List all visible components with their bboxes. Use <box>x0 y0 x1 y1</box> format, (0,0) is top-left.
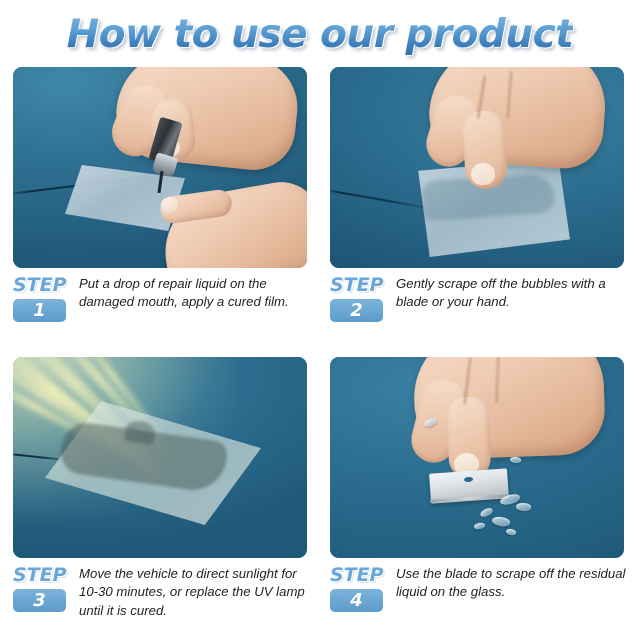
step-2-text: Gently scrape off the bubbles with a bla… <box>394 274 634 312</box>
scene-scrape-bubbles <box>330 67 624 268</box>
step-2-caption: STEP 2 Gently scrape off the bubbles wit… <box>330 274 634 348</box>
step-1-caption: STEP 1 Put a drop of repair liquid on th… <box>13 274 317 348</box>
step-4-badge: 4 <box>330 589 383 612</box>
step-4-caption: STEP 4 Use the blade to scrape off the r… <box>330 564 634 638</box>
step-2-badge: 2 <box>330 299 383 322</box>
step-1-word: STEP <box>13 276 77 295</box>
step-4-photo <box>330 357 624 558</box>
steps-grid: STEP 1 Put a drop of repair liquid on th… <box>0 62 640 640</box>
step-3-word: STEP <box>13 566 77 585</box>
step-4-number: 4 <box>350 592 363 610</box>
step-card-1: STEP 1 Put a drop of repair liquid on th… <box>10 62 327 352</box>
step-card-2: STEP 2 Gently scrape off the bubbles wit… <box>327 62 640 352</box>
step-card-3: STEP 3 Move the vehicle to direct sunlig… <box>10 352 327 640</box>
page-title-container: How to use our product <box>0 8 640 60</box>
page-title: How to use our product <box>67 12 574 57</box>
step-2-word: STEP <box>330 276 394 295</box>
step-1-text: Put a drop of repair liquid on the damag… <box>77 274 317 312</box>
step-1-badge: 1 <box>13 299 66 322</box>
step-1-number: 1 <box>33 302 46 320</box>
step-1-photo <box>13 67 307 268</box>
scene-apply-liquid <box>13 67 307 268</box>
scene-uv-curing <box>13 357 307 558</box>
step-4-marker: STEP 4 <box>330 564 394 612</box>
step-3-photo <box>13 357 307 558</box>
step-4-word: STEP <box>330 566 394 585</box>
step-2-marker: STEP 2 <box>330 274 394 322</box>
step-4-text: Use the blade to scrape off the residual… <box>394 564 634 602</box>
step-1-marker: STEP 1 <box>13 274 77 322</box>
step-3-caption: STEP 3 Move the vehicle to direct sunlig… <box>13 564 317 638</box>
step-3-text: Move the vehicle to direct sunlight for … <box>77 564 317 620</box>
scene-blade-scrape <box>330 357 624 558</box>
step-3-marker: STEP 3 <box>13 564 77 612</box>
step-card-4: STEP 4 Use the blade to scrape off the r… <box>327 352 640 640</box>
step-3-number: 3 <box>33 592 46 610</box>
step-2-number: 2 <box>350 302 363 320</box>
infographic-page: How to use our product <box>0 0 640 640</box>
step-2-photo <box>330 67 624 268</box>
step-3-badge: 3 <box>13 589 66 612</box>
